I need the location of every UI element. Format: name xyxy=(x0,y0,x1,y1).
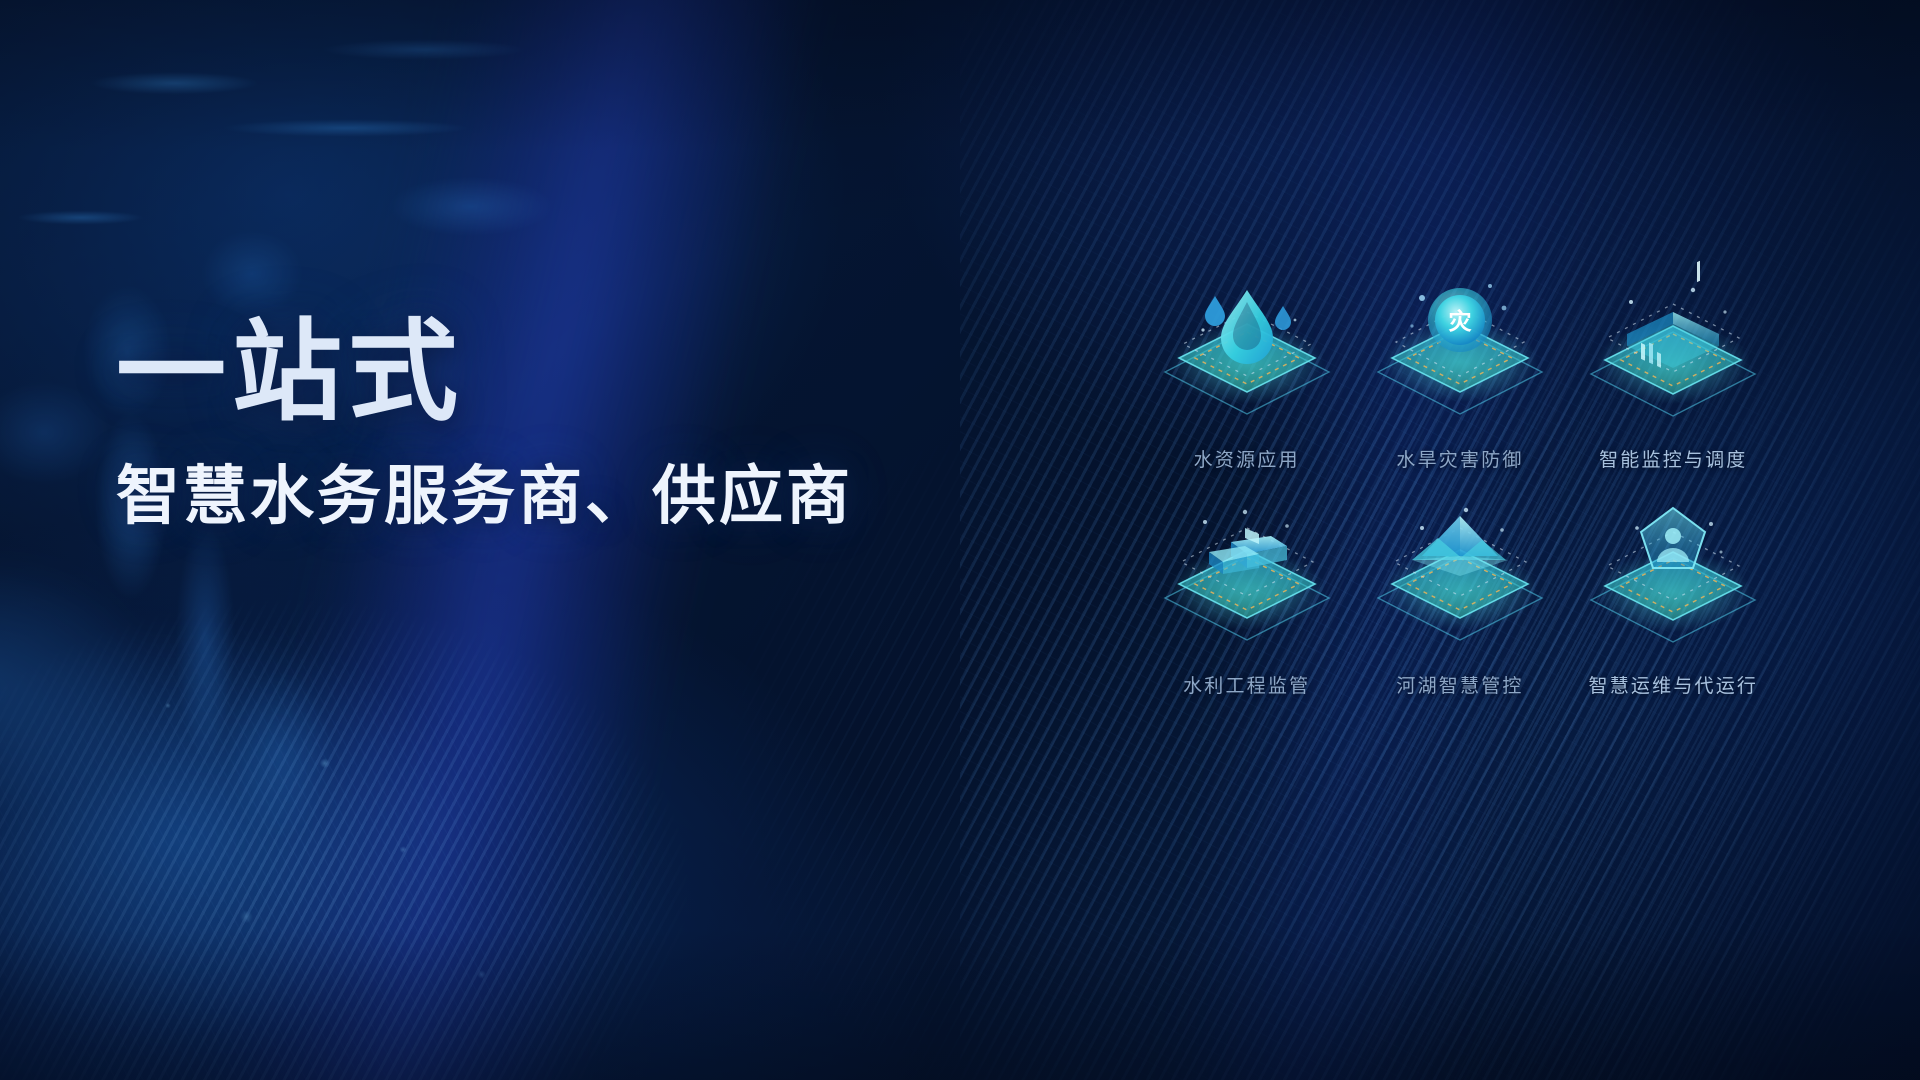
water-drop-icon xyxy=(1159,268,1335,420)
feature-item-flood-drought[interactable]: 灾 水旱灾害防御 xyxy=(1353,268,1566,494)
headline-block: 一站式 智慧水务服务商、供应商 xyxy=(116,318,853,528)
feature-label: 水利工程监管 xyxy=(1140,671,1353,698)
feature-item-water-resource[interactable]: 水资源应用 xyxy=(1140,268,1353,494)
page-title: 一站式 xyxy=(116,318,853,428)
feature-label: 水旱灾害防御 xyxy=(1353,445,1566,472)
disaster-sphere-icon: 灾 xyxy=(1372,268,1548,420)
feature-item-smart-monitor[interactable]: 智能监控与调度 xyxy=(1567,268,1780,494)
feature-label: 智能监控与调度 xyxy=(1567,445,1780,472)
feature-label: 水资源应用 xyxy=(1140,445,1353,472)
feature-label: 智慧运维与代运行 xyxy=(1567,671,1780,698)
sphere-glyph: 灾 xyxy=(1448,308,1471,334)
slide-canvas: 一站式 智慧水务服务商、供应商 xyxy=(0,0,1920,1080)
dam-structure-icon xyxy=(1159,494,1335,646)
feature-item-smart-ops[interactable]: 智慧运维与代运行 xyxy=(1567,494,1780,720)
feature-item-river-lake-control[interactable]: 河湖智慧管控 xyxy=(1353,494,1566,720)
shield-person-icon xyxy=(1585,494,1761,646)
monitor-screen-icon xyxy=(1585,268,1761,420)
feature-label: 河湖智慧管控 xyxy=(1353,671,1566,698)
feature-grid: 水资源应用 xyxy=(1140,268,1780,720)
glow-bottom-left xyxy=(0,560,720,1080)
mountain-river-icon xyxy=(1372,494,1548,646)
dash-mesh-bottom-left xyxy=(0,600,780,1080)
diagonal-light-band xyxy=(137,0,884,1080)
page-subtitle: 智慧水务服务商、供应商 xyxy=(116,464,853,528)
water-flecks xyxy=(0,600,560,1080)
feature-item-engineering-supervision[interactable]: 水利工程监管 xyxy=(1140,494,1353,720)
